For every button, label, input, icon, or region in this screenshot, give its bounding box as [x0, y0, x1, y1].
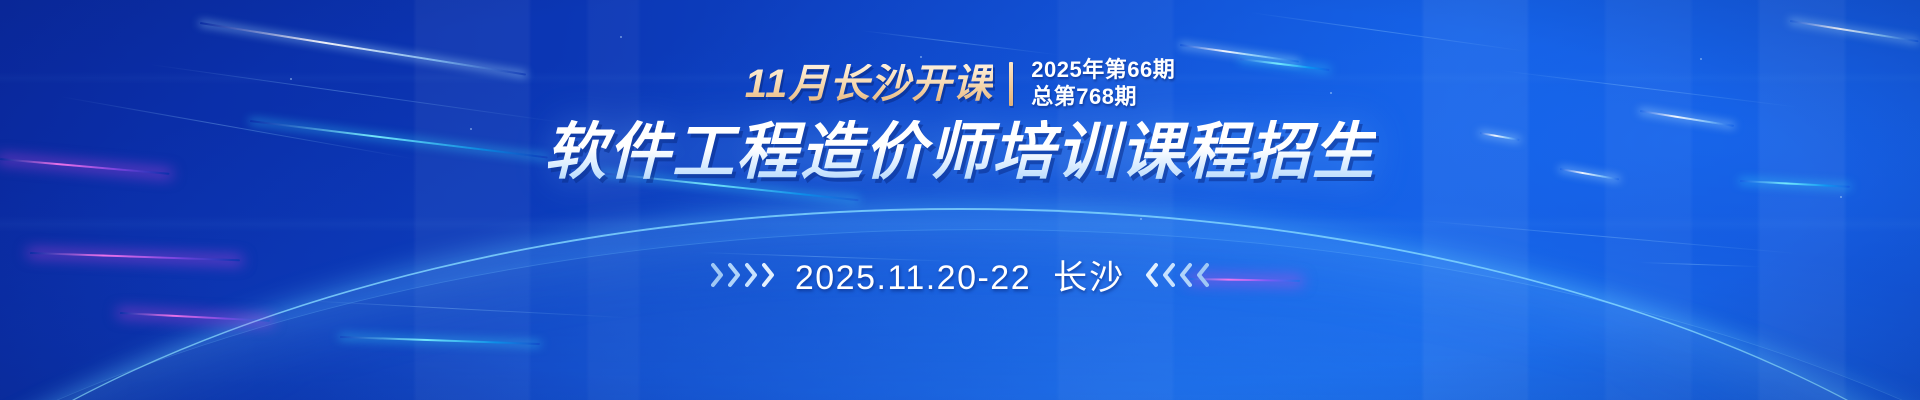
course-promo-banner: 11月长沙开课 2025年第66期 总第768期 软件工程造价师培训课程招生: [0, 0, 1920, 400]
issue-line-1: 2025年第66期: [1031, 58, 1175, 83]
chevron-right-icon: [711, 262, 726, 288]
issue-number-block: 2025年第66期 总第768期: [1031, 58, 1175, 109]
banner-content: 11月长沙开课 2025年第66期 总第768期 软件工程造价师培训课程招生: [0, 0, 1920, 400]
chevron-left-icon: [1143, 262, 1158, 288]
event-city: 长沙: [1053, 250, 1125, 299]
chevron-right-group-icon: [711, 262, 777, 288]
chevron-right-icon: [762, 262, 777, 288]
chevron-left-icon: [1194, 262, 1209, 288]
event-date: 2025.11.20-22: [795, 259, 1031, 298]
kicker-row: 11月长沙开课 2025年第66期 总第768期: [745, 58, 1175, 110]
chevron-right-icon: [745, 262, 760, 288]
banner-headline: 软件工程造价师培训课程招生: [544, 120, 1376, 187]
date-city-group: 2025.11.20-22 长沙: [795, 250, 1125, 299]
chevron-left-group-icon: [1143, 262, 1209, 288]
date-location-row: 2025.11.20-22 长沙: [711, 250, 1209, 299]
kicker-main-text: 11月长沙开课: [745, 64, 994, 104]
chevron-left-icon: [1177, 262, 1192, 288]
issue-line-2: 总第768期: [1031, 85, 1175, 110]
chevron-right-icon: [728, 262, 743, 288]
vertical-bar-icon: [1009, 62, 1013, 106]
chevron-left-icon: [1160, 262, 1175, 288]
